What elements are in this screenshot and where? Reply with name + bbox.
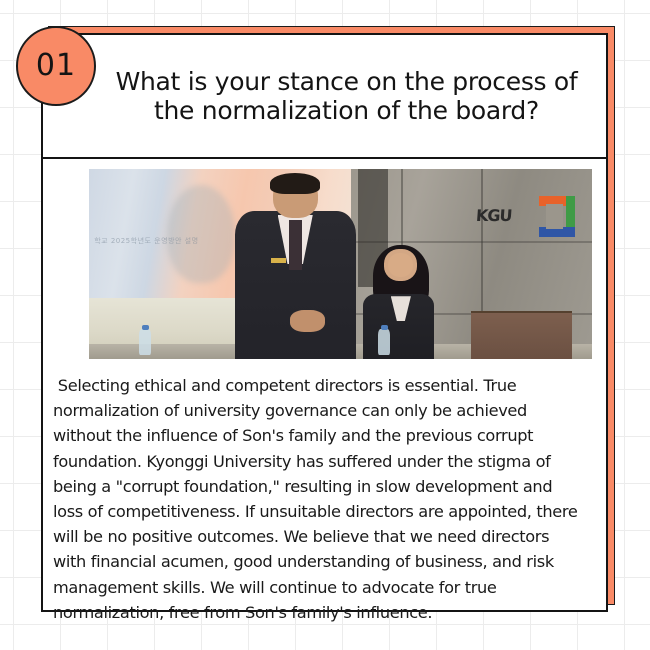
kgu-logo-text: KGU xyxy=(476,206,513,225)
kgu-logo-icon: KGU xyxy=(476,196,577,238)
photo-container: 학교 2025학년도 운영방안 설명 xyxy=(43,159,606,359)
photo-projector-text: 학교 2025학년도 운영방안 설명 xyxy=(94,236,198,246)
step-number-label: 01 xyxy=(36,51,76,81)
photo-water-bottle xyxy=(139,329,151,356)
photo-bottle-cap xyxy=(142,325,149,330)
photo-person-man-badge xyxy=(271,258,286,263)
slide-page: What is your stance on the process of th… xyxy=(0,0,650,650)
title-block: What is your stance on the process of th… xyxy=(43,35,606,159)
page-title: What is your stance on the process of th… xyxy=(101,67,592,126)
presentation-photo: 학교 2025학년도 운영방안 설명 xyxy=(89,169,592,359)
kgu-logo-cutout xyxy=(546,204,563,229)
photo-person-man-hands xyxy=(290,310,325,333)
photo-bottle-cap xyxy=(381,325,388,330)
photo-screen-silhouette xyxy=(167,185,235,283)
photo-water-bottle xyxy=(378,329,390,356)
kgu-logo-mark xyxy=(539,196,575,238)
body-container: Selecting ethical and competent director… xyxy=(43,359,606,635)
photo-person-man-hair xyxy=(270,173,320,194)
answer-body-text: Selecting ethical and competent director… xyxy=(53,373,584,625)
photo-lectern xyxy=(471,311,572,359)
content-card: What is your stance on the process of th… xyxy=(41,33,608,612)
photo-person-woman-face xyxy=(388,253,413,278)
step-number-badge: 01 xyxy=(16,26,96,106)
photo-person-man-tie xyxy=(289,220,302,269)
